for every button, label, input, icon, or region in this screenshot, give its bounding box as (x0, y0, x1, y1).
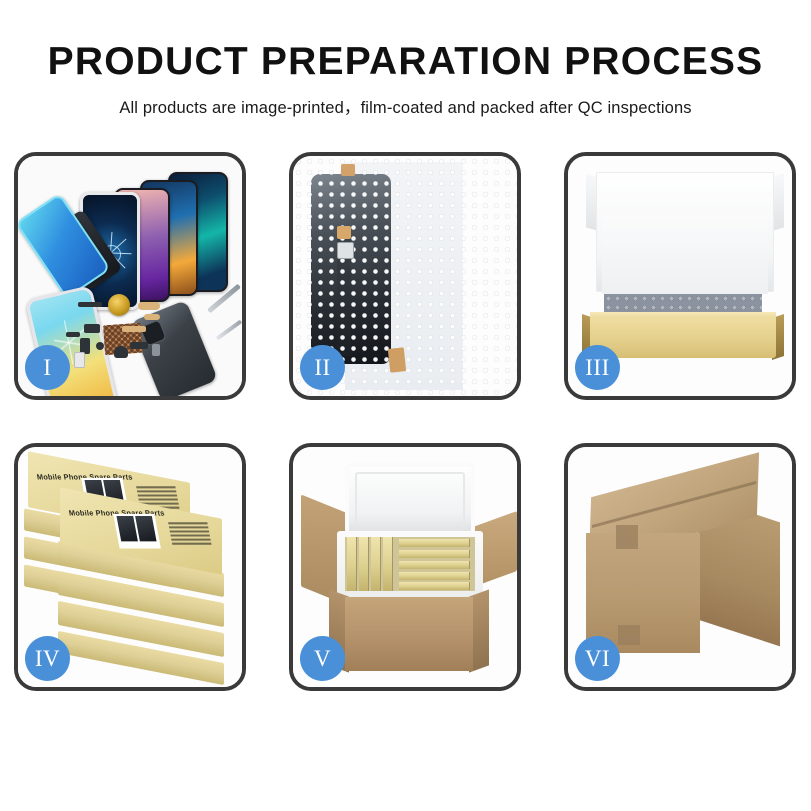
flex-cable-tan-2-icon (144, 314, 160, 320)
step-badge-3: III (575, 345, 620, 390)
foam-lid-icon (345, 463, 475, 535)
tape-top-icon (341, 164, 355, 176)
page-subtitle: All products are image-printed，film-coat… (0, 94, 811, 118)
foam-sheet-icon (602, 216, 768, 294)
part-round-icon (96, 342, 104, 350)
process-step-panel-2[interactable]: II (289, 152, 521, 400)
process-step-panel-5[interactable]: V (289, 443, 521, 691)
box-spec-lines-front (168, 522, 212, 546)
process-step-grid: I II III (14, 152, 797, 691)
copper-coil-icon (108, 294, 130, 316)
sim-tray-icon (74, 352, 85, 368)
speaker-icon (114, 346, 128, 358)
step-badge-5: V (300, 636, 345, 681)
box-product-image-front (113, 514, 161, 549)
connector-icon (337, 242, 354, 259)
process-step-panel-1[interactable]: I (14, 152, 246, 400)
tape-bottom-right-icon (388, 347, 406, 373)
process-step-panel-6[interactable]: VI (564, 443, 796, 691)
part-thin-icon (66, 332, 80, 337)
page-title: PRODUCT PREPARATION PROCESS (0, 42, 811, 83)
process-step-panel-4[interactable]: Mobile Phone Spare Parts Mobile Phone Sp… (14, 443, 246, 691)
part-bar-icon (130, 342, 148, 349)
step-badge-2: II (300, 345, 345, 390)
tape-middle-icon (337, 226, 351, 239)
part-strip-icon (78, 302, 102, 307)
page-header: PRODUCT PREPARATION PROCESS All products… (0, 0, 811, 118)
carton-tape-lower-icon (618, 625, 640, 645)
step-badge-6: VI (575, 636, 620, 681)
step-badge-4: IV (25, 636, 70, 681)
process-step-panel-3[interactable]: III (564, 152, 796, 400)
packed-gold-boxes-icon (345, 537, 475, 591)
flex-cable-long-icon (122, 326, 146, 332)
box-thumb-icon (116, 516, 137, 541)
flex-cable-tan-icon (138, 302, 160, 310)
carton-tape-upper-icon (616, 525, 638, 549)
carton-front-icon (345, 597, 473, 671)
carton-front-face-icon (586, 533, 700, 653)
box-thumb-icon (135, 516, 156, 541)
step-badge-1: I (25, 345, 70, 390)
part-connector-icon (84, 324, 100, 333)
camera-module-icon (152, 344, 160, 356)
gold-inner-box-icon (590, 318, 776, 358)
